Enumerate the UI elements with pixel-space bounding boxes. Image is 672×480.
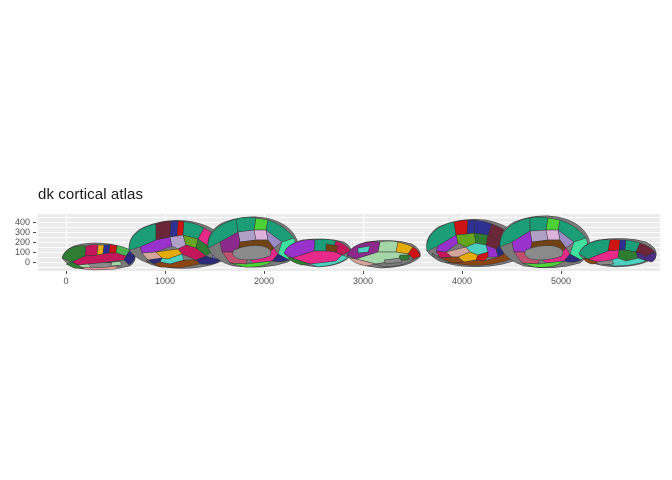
x-axis-tick-1000 — [165, 271, 166, 274]
y-axis-label-100: 100 — [15, 248, 30, 257]
x-axis-tick-0 — [66, 271, 67, 274]
y-axis-label-0: 0 — [25, 258, 30, 267]
x-axis-label-4000: 4000 — [452, 276, 472, 286]
y-axis-tick-300 — [33, 232, 36, 233]
brain-view-5-right-medial — [344, 240, 424, 268]
ggplot-figure: dk cortical atlas 400 300 200 100 0 — [0, 0, 672, 480]
x-axis-label-2000: 2000 — [254, 276, 274, 286]
y-axis-tick-0 — [33, 262, 36, 263]
x-axis-label-3000: 3000 — [353, 276, 373, 286]
y-axis-tick-100 — [33, 252, 36, 253]
x-axis-label-5000: 5000 — [551, 276, 571, 286]
x-axis: 0 1000 2000 3000 4000 5000 — [0, 271, 672, 293]
y-axis-tick-400 — [33, 222, 36, 223]
y-axis-label-200: 200 — [15, 238, 30, 247]
x-axis-label-1000: 1000 — [155, 276, 175, 286]
x-axis-label-0: 0 — [63, 276, 68, 286]
y-axis-label-300: 300 — [15, 228, 30, 237]
brain-view-8-right-lateral — [576, 238, 660, 268]
y-axis-tick-200 — [33, 242, 36, 243]
x-axis-tick-2000 — [264, 271, 265, 274]
x-axis-tick-5000 — [561, 271, 562, 274]
plot-panel — [38, 214, 660, 271]
x-axis-tick-4000 — [462, 271, 463, 274]
page-title: dk cortical atlas — [38, 186, 143, 203]
y-axis: 400 300 200 100 0 — [0, 214, 38, 271]
y-axis-label-400: 400 — [15, 218, 30, 227]
x-axis-tick-3000 — [363, 271, 364, 274]
